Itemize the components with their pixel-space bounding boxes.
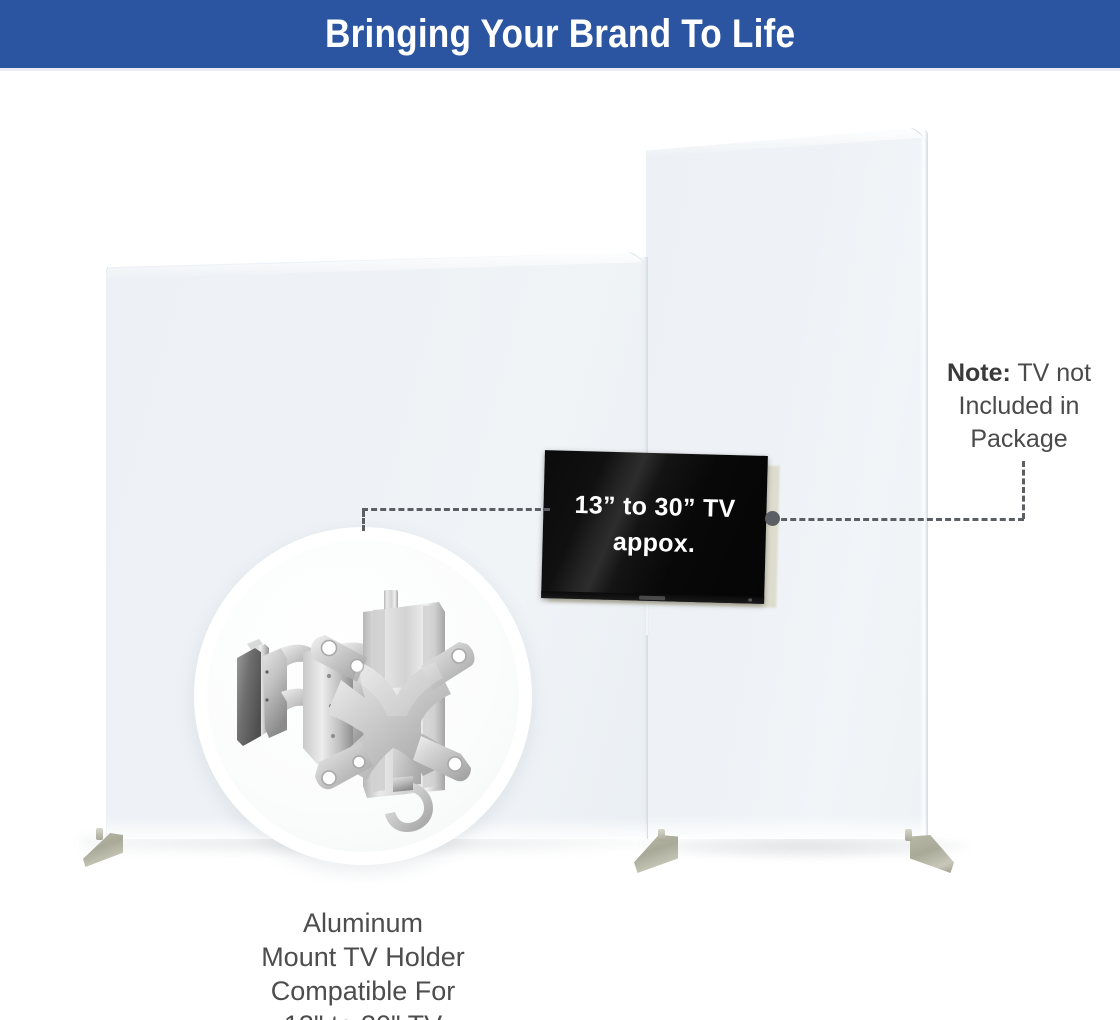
- page-title: Bringing Your Brand To Life: [325, 14, 795, 54]
- tv-callout-line-1: 13” to 30” TV: [574, 490, 736, 524]
- tv-mount-bracket-illustration: [207, 540, 519, 852]
- connector-line-note-horizontal: [772, 518, 1024, 521]
- product-caption-block: Aluminum Mount TV Holder Compatible For …: [192, 906, 534, 1020]
- infographic-canvas: Bringing Your Brand To Life 13” to 30” T…: [0, 0, 1120, 1020]
- tv-callout-line-2: appox.: [613, 527, 696, 559]
- tv-power-led: [748, 598, 752, 601]
- foot-pin-rear-right: [905, 829, 912, 841]
- note-line-1-rest: TV not: [1011, 359, 1091, 387]
- note-text-block: Note: TV not Included in Package: [930, 357, 1108, 456]
- rear-panel-right-edge: [920, 127, 928, 839]
- connector-line-mount-horizontal: [362, 508, 550, 511]
- connector-line-note-vertical: [1022, 461, 1025, 519]
- note-line-2: Included in: [959, 392, 1080, 420]
- note-label: Note:: [947, 359, 1011, 387]
- tv-size-callout: 13” to 30” TV appox.: [541, 450, 768, 604]
- foot-pin-rear-left: [658, 829, 665, 841]
- caption-line-3: Compatible For: [192, 974, 534, 1008]
- tv-screen: 13” to 30” TV appox.: [541, 450, 768, 604]
- note-line-3: Package: [970, 425, 1067, 453]
- header-banner: Bringing Your Brand To Life: [0, 0, 1120, 68]
- product-scene: 13” to 30” TV appox.: [0, 71, 1120, 1020]
- tv-brand-logo: [639, 596, 665, 601]
- connector-line-mount-vertical: [362, 511, 365, 531]
- foot-pin-front-left: [96, 828, 103, 840]
- caption-line-4: 13" to 30" TV: [192, 1008, 534, 1020]
- caption-line-2: Mount TV Holder: [192, 940, 534, 974]
- caption-line-1: Aluminum: [192, 906, 534, 940]
